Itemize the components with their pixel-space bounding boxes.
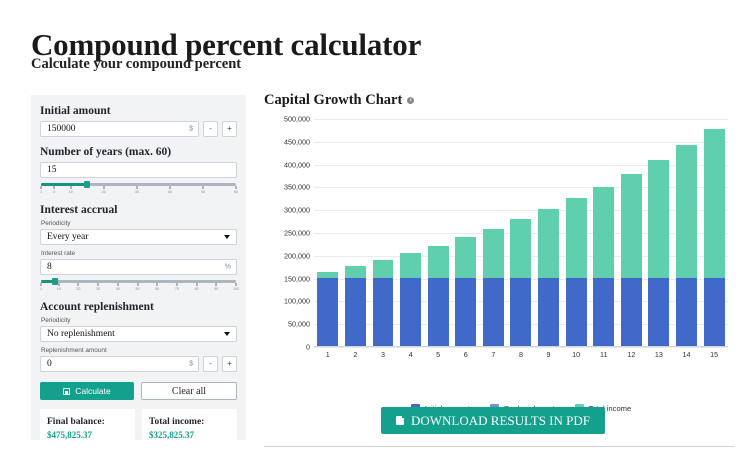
- years-slider[interactable]: 15102030405060: [40, 183, 237, 195]
- bar-segment[interactable]: [345, 278, 366, 346]
- bar-segment[interactable]: [345, 266, 366, 277]
- years-slider-fill: [41, 183, 87, 186]
- pdf-icon: [396, 416, 404, 425]
- y-axis-tick-label: 200,000: [284, 251, 310, 260]
- chevron-down-icon: [224, 235, 230, 239]
- initial-amount-row: 150000 $ - +: [40, 121, 237, 137]
- bar-segment[interactable]: [676, 145, 697, 278]
- stacked-bar[interactable]: [566, 198, 587, 346]
- total-income-card: Total income: $325,825.37: [142, 409, 237, 450]
- bar-segment[interactable]: [428, 278, 449, 346]
- initial-amount-input[interactable]: 150000 $: [40, 121, 199, 137]
- x-axis-tick-label: 13: [645, 350, 673, 359]
- slider-tick-label: 10: [69, 190, 73, 194]
- form-actions: Calculate Clear all: [40, 382, 237, 400]
- y-axis-tick-label: 100,000: [284, 297, 310, 306]
- replenishment-amount-row: 0 $ - +: [40, 356, 237, 372]
- calculate-button[interactable]: Calculate: [40, 382, 134, 400]
- slider-tick-label: 30: [96, 287, 100, 291]
- info-icon[interactable]: i: [407, 97, 414, 104]
- slider-tick-label: 70: [175, 287, 179, 291]
- x-axis-tick-label: 8: [507, 350, 535, 359]
- bar-column[interactable]: [535, 119, 563, 346]
- years-slider-ticks: 15102030405060: [41, 187, 236, 195]
- x-axis-line: [314, 346, 728, 347]
- slider-tick-label: 60: [234, 190, 238, 194]
- download-pdf-button[interactable]: DOWNLOAD RESULTS IN PDF: [381, 407, 605, 434]
- interest-periodicity-value: Every year: [41, 232, 88, 242]
- slider-tick-mark: [58, 283, 59, 286]
- bar-segment[interactable]: [648, 160, 669, 278]
- percent-suffix-icon: %: [225, 264, 231, 271]
- bar-segment[interactable]: [566, 278, 587, 346]
- y-axis-labels: 050,000100,000150,000200,000250,000300,0…: [264, 119, 310, 347]
- bar-segment[interactable]: [428, 246, 449, 278]
- y-axis-tick-label: 250,000: [284, 229, 310, 238]
- y-axis-tick-label: 0: [306, 343, 310, 352]
- plot-grid-zone: [314, 119, 728, 347]
- calculate-button-label: Calculate: [75, 386, 110, 396]
- clear-all-button[interactable]: Clear all: [141, 382, 237, 400]
- stacked-bar[interactable]: [345, 266, 366, 346]
- slider-tick-mark: [236, 283, 237, 286]
- calculator-form-panel: Initial amount 150000 $ - + Number of ye…: [31, 95, 246, 440]
- slider-tick-mark: [117, 283, 118, 286]
- slider-tick-label: 20: [76, 287, 80, 291]
- stacked-bar[interactable]: [538, 209, 559, 346]
- stacked-bar[interactable]: [621, 174, 642, 346]
- stacked-bar[interactable]: [676, 145, 697, 346]
- replenishment-decrement-button[interactable]: -: [203, 356, 218, 372]
- x-axis-tick-label: 15: [700, 350, 728, 359]
- stacked-bar[interactable]: [704, 129, 725, 346]
- interest-rate-slider-track[interactable]: [41, 280, 236, 283]
- slider-tick-label: 40: [116, 287, 120, 291]
- stacked-bar[interactable]: [593, 187, 614, 346]
- initial-amount-label: Initial amount: [40, 105, 237, 117]
- y-axis-tick-label: 50,000: [288, 320, 310, 329]
- slider-tick-mark: [169, 186, 170, 189]
- slider-tick-label: 60: [155, 287, 159, 291]
- gridline: [314, 347, 728, 348]
- slider-tick-mark: [54, 186, 55, 189]
- slider-tick-mark: [236, 186, 237, 189]
- slider-tick-mark: [136, 186, 137, 189]
- bar-segment[interactable]: [510, 219, 531, 277]
- y-axis-tick-label: 400,000: [284, 160, 310, 169]
- x-axis-tick-label: 2: [342, 350, 370, 359]
- x-axis-tick-label: 10: [562, 350, 590, 359]
- interest-rate-slider-ticks: 1102030405060708090100: [41, 284, 236, 292]
- bar-column[interactable]: [369, 119, 397, 346]
- x-axis-tick-label: 14: [673, 350, 701, 359]
- replenishment-amount-label: Replenishment amount: [41, 347, 237, 354]
- x-axis-tick-label: 4: [397, 350, 425, 359]
- bar-segment[interactable]: [400, 278, 421, 346]
- x-axis-tick-label: 6: [452, 350, 480, 359]
- years-value: 15: [41, 165, 57, 175]
- slider-tick-mark: [70, 186, 71, 189]
- years-label: Number of years (max. 60): [40, 146, 237, 158]
- slider-tick-mark: [98, 283, 99, 286]
- x-axis-tick-label: 9: [535, 350, 563, 359]
- bar-segment[interactable]: [400, 253, 421, 278]
- y-axis-tick-label: 450,000: [284, 137, 310, 146]
- initial-amount-value: 150000: [41, 124, 76, 134]
- slider-tick-label: 5: [53, 190, 55, 194]
- bar-column[interactable]: [618, 119, 646, 346]
- stacked-bar[interactable]: [428, 246, 449, 346]
- slider-tick-label: 80: [195, 287, 199, 291]
- x-axis-tick-label: 7: [480, 350, 508, 359]
- final-balance-label: Final balance:: [47, 417, 128, 427]
- slider-tick-mark: [176, 283, 177, 286]
- stacked-bar[interactable]: [400, 253, 421, 346]
- slider-tick-mark: [202, 186, 203, 189]
- x-axis-tick-label: 3: [369, 350, 397, 359]
- x-axis-tick-label: 11: [590, 350, 618, 359]
- bar-segment[interactable]: [621, 278, 642, 346]
- replenishment-periodicity-label: Periodicity: [41, 317, 237, 324]
- bar-segment[interactable]: [455, 278, 476, 346]
- slider-tick-mark: [137, 283, 138, 286]
- x-axis-tick-label: 5: [424, 350, 452, 359]
- bar-column[interactable]: [452, 119, 480, 346]
- total-income-label: Total income:: [149, 417, 230, 427]
- interest-accrual-title: Interest accrual: [40, 204, 237, 216]
- final-balance-value: $475,825.37: [47, 430, 128, 440]
- replenishment-increment-button[interactable]: +: [222, 356, 237, 372]
- initial-amount-increment-button[interactable]: +: [222, 121, 237, 137]
- stacked-bar[interactable]: [648, 160, 669, 346]
- save-icon: [63, 388, 70, 395]
- y-axis-tick-label: 300,000: [284, 206, 310, 215]
- slider-tick-mark: [103, 186, 104, 189]
- slider-tick-label: 30: [135, 190, 139, 194]
- bar-segment[interactable]: [621, 174, 642, 278]
- y-axis-tick-label: 350,000: [284, 183, 310, 192]
- account-replenishment-title: Account replenishment: [40, 301, 237, 313]
- stacked-bar[interactable]: [317, 272, 338, 346]
- bar-segment[interactable]: [566, 198, 587, 277]
- interest-rate-slider[interactable]: 1102030405060708090100: [40, 280, 237, 292]
- chart-area: Capital Growth Chart i 050,000100,000150…: [264, 92, 734, 359]
- bar-segment[interactable]: [455, 237, 476, 277]
- slider-tick-label: 100: [233, 287, 239, 291]
- x-axis-tick-label: 12: [618, 350, 646, 359]
- slider-tick-mark: [196, 283, 197, 286]
- chart-title-text: Capital Growth Chart: [264, 92, 402, 109]
- bar-column[interactable]: [397, 119, 425, 346]
- bar-column[interactable]: [480, 119, 508, 346]
- bar-segment[interactable]: [704, 129, 725, 278]
- slider-tick-label: 1: [40, 190, 42, 194]
- results-cards: Final balance: $475,825.37 Total income:…: [40, 409, 237, 450]
- bar-segment[interactable]: [593, 187, 614, 278]
- y-axis-tick-label: 500,000: [284, 115, 310, 124]
- bar-segment[interactable]: [483, 278, 504, 346]
- interest-periodicity-select[interactable]: Every year: [40, 229, 237, 245]
- bar-column[interactable]: [700, 119, 728, 346]
- chart-title: Capital Growth Chart i: [264, 92, 734, 109]
- total-income-value: $325,825.37: [149, 430, 230, 440]
- capital-growth-chart: 050,000100,000150,000200,000250,000300,0…: [264, 119, 734, 359]
- slider-tick-label: 50: [136, 287, 140, 291]
- slider-tick-mark: [78, 283, 79, 286]
- replenishment-amount-input[interactable]: 0 $: [40, 356, 199, 372]
- replenishment-amount-value: 0: [41, 359, 52, 369]
- bar-column[interactable]: [562, 119, 590, 346]
- bar-column[interactable]: [424, 119, 452, 346]
- bar-column[interactable]: [645, 119, 673, 346]
- slider-tick-label: 40: [168, 190, 172, 194]
- interest-rate-label: Interest rate: [41, 250, 237, 257]
- slider-tick-label: 10: [57, 287, 61, 291]
- currency-suffix-icon: $: [189, 361, 193, 368]
- bar-segment[interactable]: [373, 260, 394, 278]
- download-pdf-label: DOWNLOAD RESULTS IN PDF: [411, 413, 590, 429]
- slider-tick-label: 20: [102, 190, 106, 194]
- initial-amount-decrement-button[interactable]: -: [203, 121, 218, 137]
- final-balance-card: Final balance: $475,825.37: [40, 409, 135, 450]
- stacked-bar[interactable]: [455, 237, 476, 346]
- chevron-down-icon: [224, 332, 230, 336]
- slider-tick-mark: [157, 283, 158, 286]
- slider-tick-mark: [41, 283, 42, 286]
- page-subtitle: Calculate your compound percent: [31, 56, 241, 73]
- stacked-bar[interactable]: [373, 260, 394, 346]
- bar-column[interactable]: [507, 119, 535, 346]
- bar-segment[interactable]: [373, 278, 394, 346]
- stacked-bar[interactable]: [510, 219, 531, 346]
- bar-segment[interactable]: [510, 278, 531, 346]
- bar-segment[interactable]: [538, 278, 559, 346]
- y-axis-tick-label: 150,000: [284, 274, 310, 283]
- slider-tick-mark: [216, 283, 217, 286]
- bar-column[interactable]: [673, 119, 701, 346]
- interest-rate-input[interactable]: 8 %: [40, 259, 237, 275]
- calculator-page: Compound percent calculator Calculate yo…: [0, 0, 752, 459]
- stacked-bar[interactable]: [483, 229, 504, 346]
- slider-tick-label: 90: [214, 287, 218, 291]
- slider-tick-mark: [41, 186, 42, 189]
- bar-segment[interactable]: [317, 278, 338, 346]
- bar-segment[interactable]: [676, 278, 697, 346]
- interest-rate-value: 8: [41, 262, 52, 272]
- bar-segment[interactable]: [538, 209, 559, 277]
- x-axis-labels: 123456789101112131415: [314, 350, 728, 359]
- x-axis-tick-label: 1: [314, 350, 342, 359]
- currency-suffix-icon: $: [189, 126, 193, 133]
- bar-segment[interactable]: [593, 278, 614, 346]
- slider-tick-label: 1: [40, 287, 42, 291]
- bar-series: [314, 119, 728, 346]
- interest-periodicity-label: Periodicity: [41, 220, 237, 227]
- replenishment-periodicity-select[interactable]: No replenishment: [40, 326, 237, 342]
- bottom-divider: [264, 446, 734, 447]
- replenishment-periodicity-value: No replenishment: [41, 329, 115, 339]
- bar-column[interactable]: [342, 119, 370, 346]
- slider-tick-label: 50: [201, 190, 205, 194]
- years-input[interactable]: 15: [40, 162, 237, 178]
- bar-segment[interactable]: [704, 278, 725, 346]
- bar-column[interactable]: [590, 119, 618, 346]
- bar-segment[interactable]: [483, 229, 504, 278]
- bar-segment[interactable]: [648, 278, 669, 346]
- bar-column[interactable]: [314, 119, 342, 346]
